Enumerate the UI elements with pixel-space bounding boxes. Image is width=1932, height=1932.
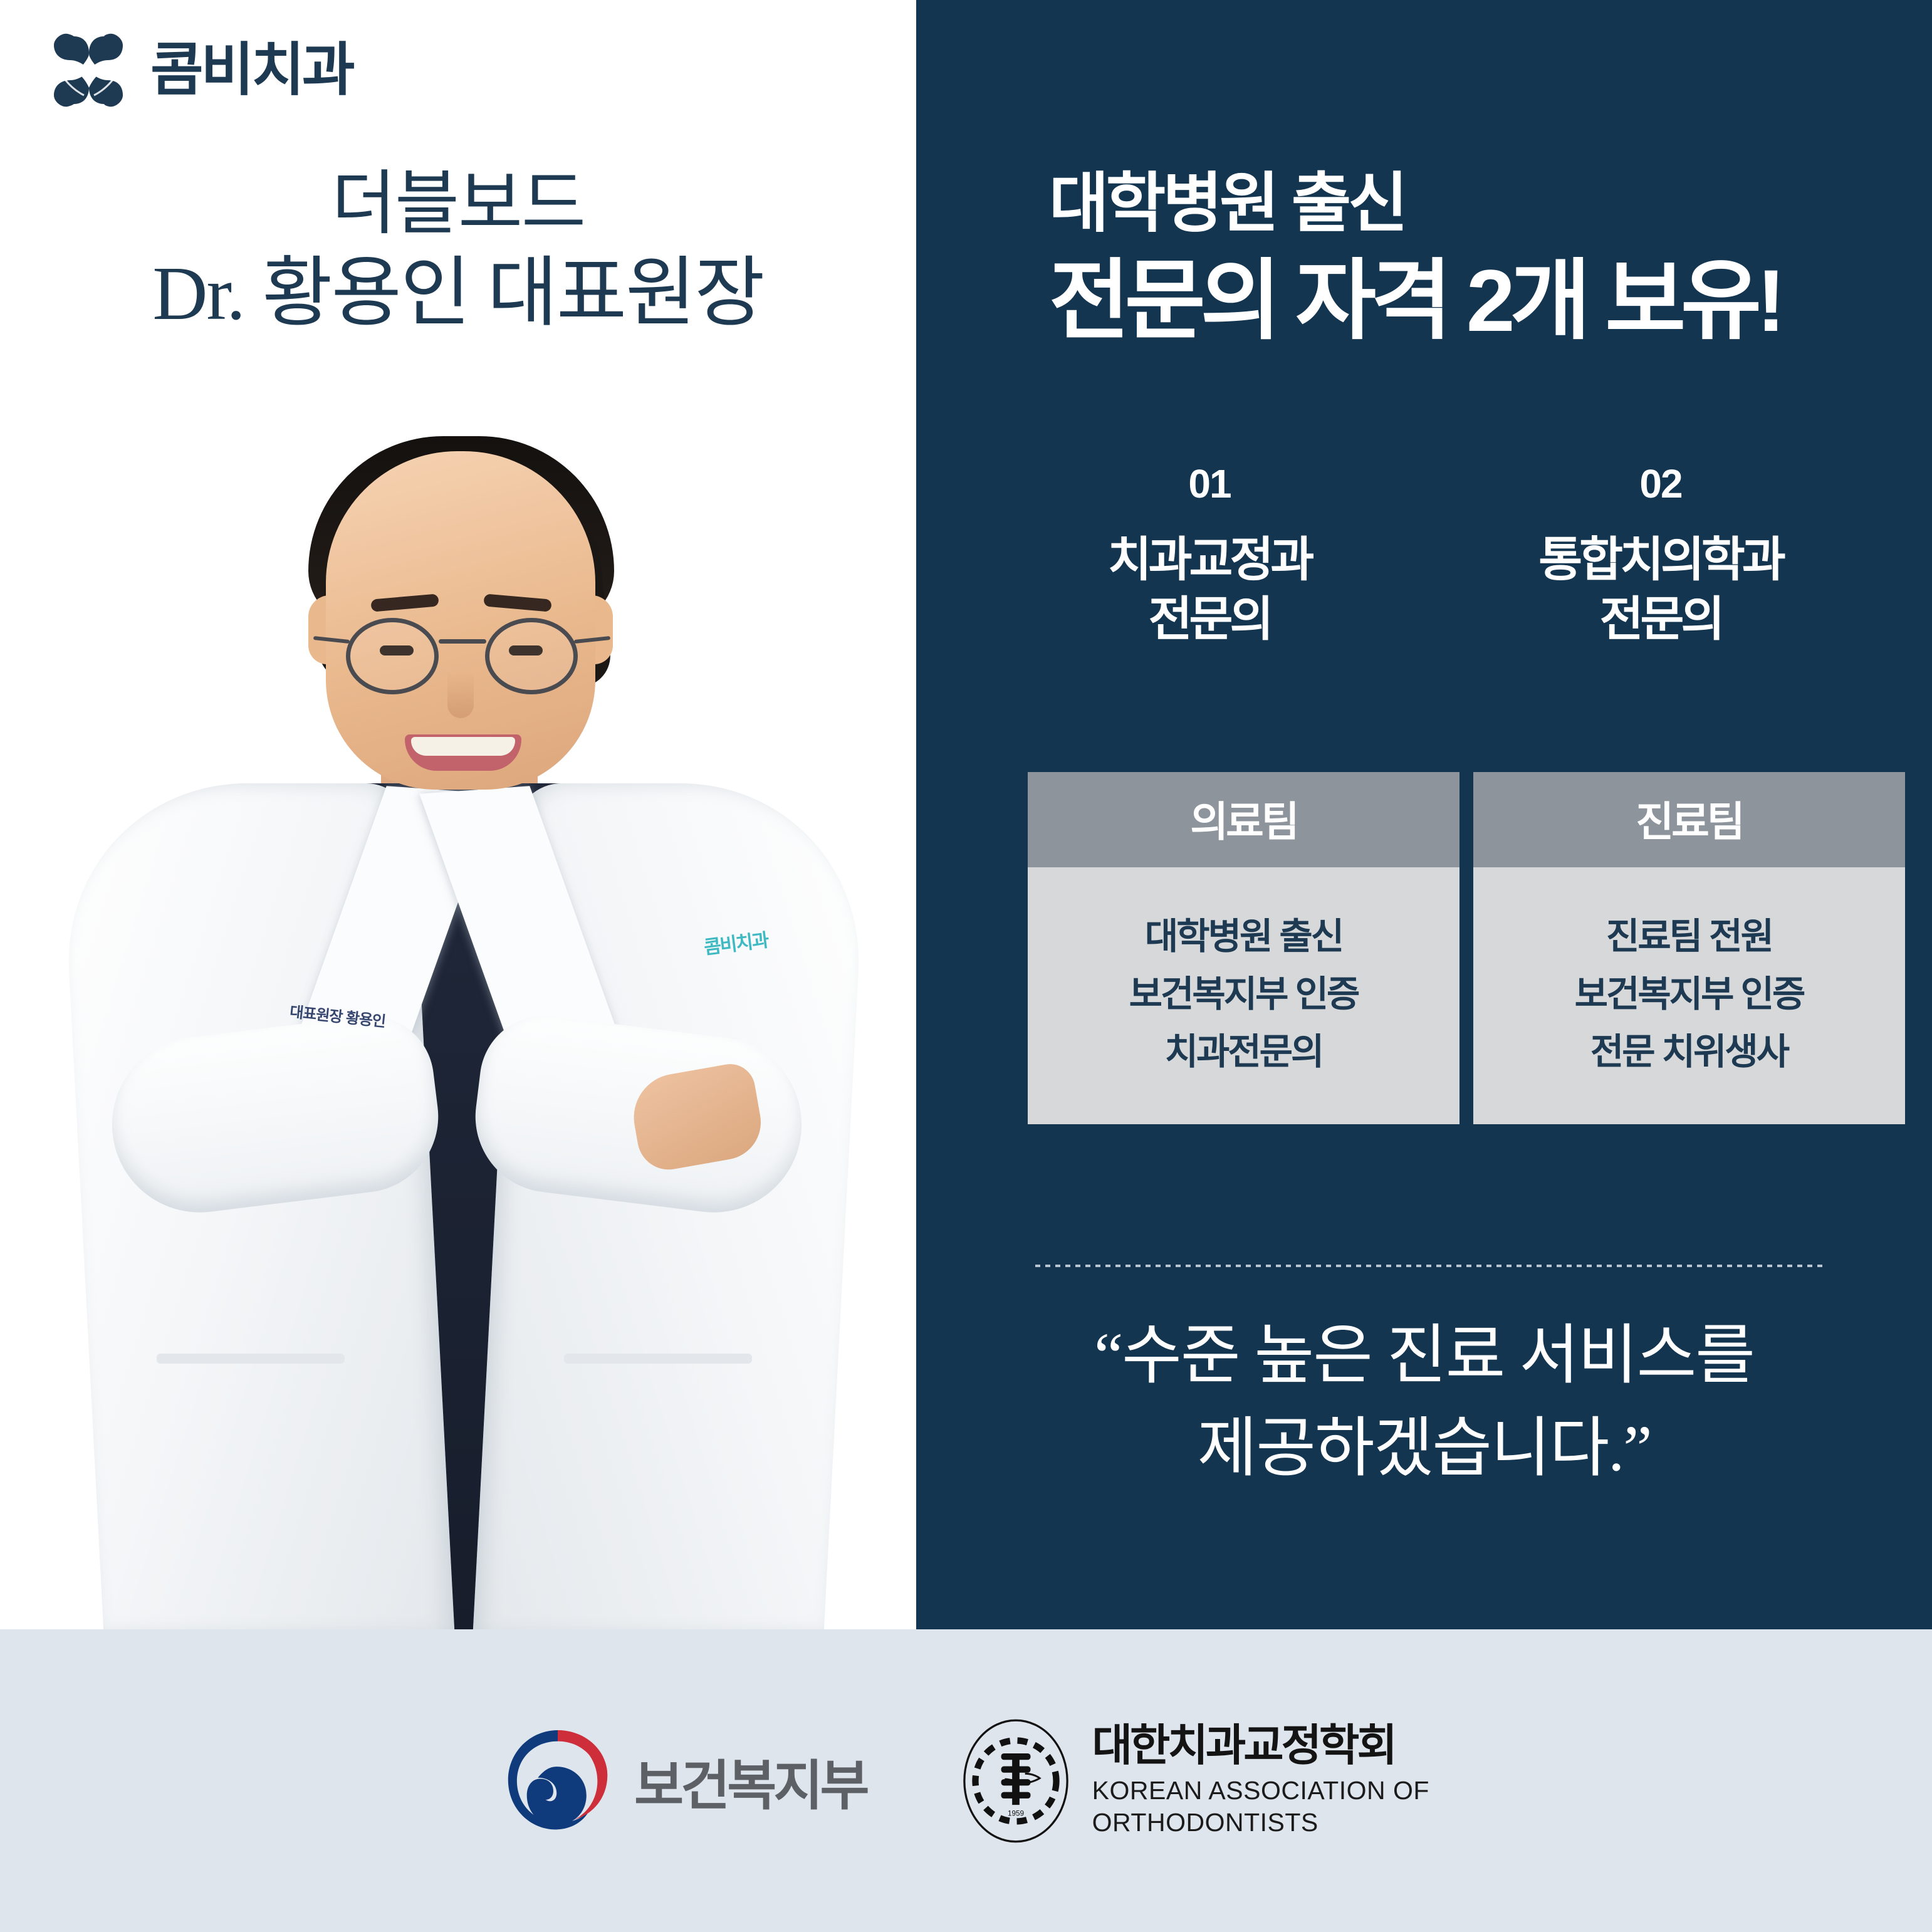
team-card-line: 진료팀 전원 — [1473, 919, 1905, 955]
left-title-line2: Dr. 황용인 대표원장 — [0, 248, 916, 341]
team-card-line: 보건복지부 인증 — [1473, 976, 1905, 1013]
left-title: 더블보드 Dr. 황용인 대표원장 — [0, 162, 916, 340]
pledge-quote: “수준 높은 진료 서비스를 제공하겠습니다.” — [916, 1310, 1932, 1495]
footer-bar: 보건복지부 1959 대 — [0, 1629, 1932, 1932]
brand-name-label: 콤비치과 — [150, 41, 353, 99]
left-panel: 콤비치과 더블보드 Dr. 황용인 대표원장 — [0, 0, 916, 1629]
right-headline-block: 대학병원 출신 전문의 자격 2개 보유! — [916, 168, 1932, 351]
glasses-bridge — [439, 639, 486, 644]
coat-chest-embroidery: 콤비치과 — [697, 929, 779, 996]
specialty-subtitle: 전문의 — [1034, 590, 1385, 649]
headline-large: 전문의 자격 2개 보유! — [1049, 251, 1932, 351]
team-card-line: 전문 치위생사 — [1473, 1034, 1905, 1070]
quote-line2: 제공하겠습니다.” — [916, 1402, 1932, 1495]
svg-text:1959: 1959 — [1008, 1809, 1024, 1817]
specialty-item-01: 01 치과교정과 전문의 — [1034, 464, 1385, 649]
poster-root: 콤비치과 더블보드 Dr. 황용인 대표원장 — [0, 0, 1932, 1932]
portrait-teeth — [411, 737, 515, 756]
team-card-line: 보건복지부 인증 — [1028, 976, 1459, 1013]
kao-seal-logo-icon: 1959 — [961, 1716, 1071, 1846]
portrait-nose — [447, 672, 474, 718]
kao-label-block: 대한치과교정학회 KOREAN ASSOCIATION OF ORTHODONT… — [1092, 1723, 1429, 1837]
team-card-body: 진료팀 전원 보건복지부 인증 전문 치위생사 — [1473, 867, 1905, 1124]
right-panel: 대학병원 출신 전문의 자격 2개 보유! 01 치과교정과 전문의 02 통합… — [916, 0, 1932, 1629]
team-card-line: 치과전문의 — [1028, 1034, 1459, 1070]
specialty-item-02: 02 통합치의학과 전문의 — [1485, 464, 1836, 649]
mohw-taegeuk-logo-icon — [503, 1726, 613, 1836]
glasses-lens-right — [485, 618, 578, 694]
kao-label-kr: 대한치과교정학회 — [1092, 1723, 1429, 1767]
team-cards: 의료팀 대학병원 출신 보건복지부 인증 치과전문의 진료팀 진료팀 전원 보건… — [1028, 772, 1905, 1124]
team-card-body: 대학병원 출신 보건복지부 인증 치과전문의 — [1028, 867, 1459, 1124]
brand-lockup: 콤비치과 — [49, 30, 353, 110]
glasses-lens-left — [346, 618, 439, 694]
portrait-pocket-left — [157, 1354, 345, 1364]
specialty-number: 02 — [1485, 464, 1836, 504]
specialty-number: 01 — [1034, 464, 1385, 504]
specialty-title: 치과교정과 — [1034, 530, 1385, 590]
portrait-mouth — [405, 734, 521, 771]
headline-small: 대학병원 출신 — [1049, 168, 1932, 239]
dotted-divider — [1035, 1265, 1825, 1267]
doctor-portrait: 콤비치과 대표원장 황용인 — [0, 351, 916, 1629]
combi-clover-logo-icon — [49, 30, 129, 110]
mohw-logo-lockup: 보건복지부 — [503, 1726, 867, 1836]
left-title-line1: 더블보드 — [0, 162, 916, 248]
mohw-label: 보건복지부 — [634, 1741, 867, 1820]
team-card-medical: 의료팀 대학병원 출신 보건복지부 인증 치과전문의 — [1028, 772, 1459, 1124]
quote-line1: “수준 높은 진료 서비스를 — [916, 1310, 1932, 1402]
team-card-clinical: 진료팀 진료팀 전원 보건복지부 인증 전문 치위생사 — [1473, 772, 1905, 1124]
kao-logo-lockup: 1959 대한치과교정학회 KOREAN ASSOCIATION OF ORTH… — [961, 1716, 1429, 1846]
team-card-line: 대학병원 출신 — [1028, 919, 1459, 955]
team-card-header: 진료팀 — [1473, 772, 1905, 867]
kao-label-en-line2: ORTHODONTISTS — [1092, 1807, 1429, 1838]
kao-label-en-line1: KOREAN ASSOCIATION OF — [1092, 1775, 1429, 1806]
specialty-row: 01 치과교정과 전문의 02 통합치의학과 전문의 — [1034, 464, 1836, 649]
specialty-title: 통합치의학과 — [1485, 530, 1836, 590]
team-card-header: 의료팀 — [1028, 772, 1459, 867]
portrait-pocket-right — [564, 1354, 752, 1364]
specialty-subtitle: 전문의 — [1485, 590, 1836, 649]
